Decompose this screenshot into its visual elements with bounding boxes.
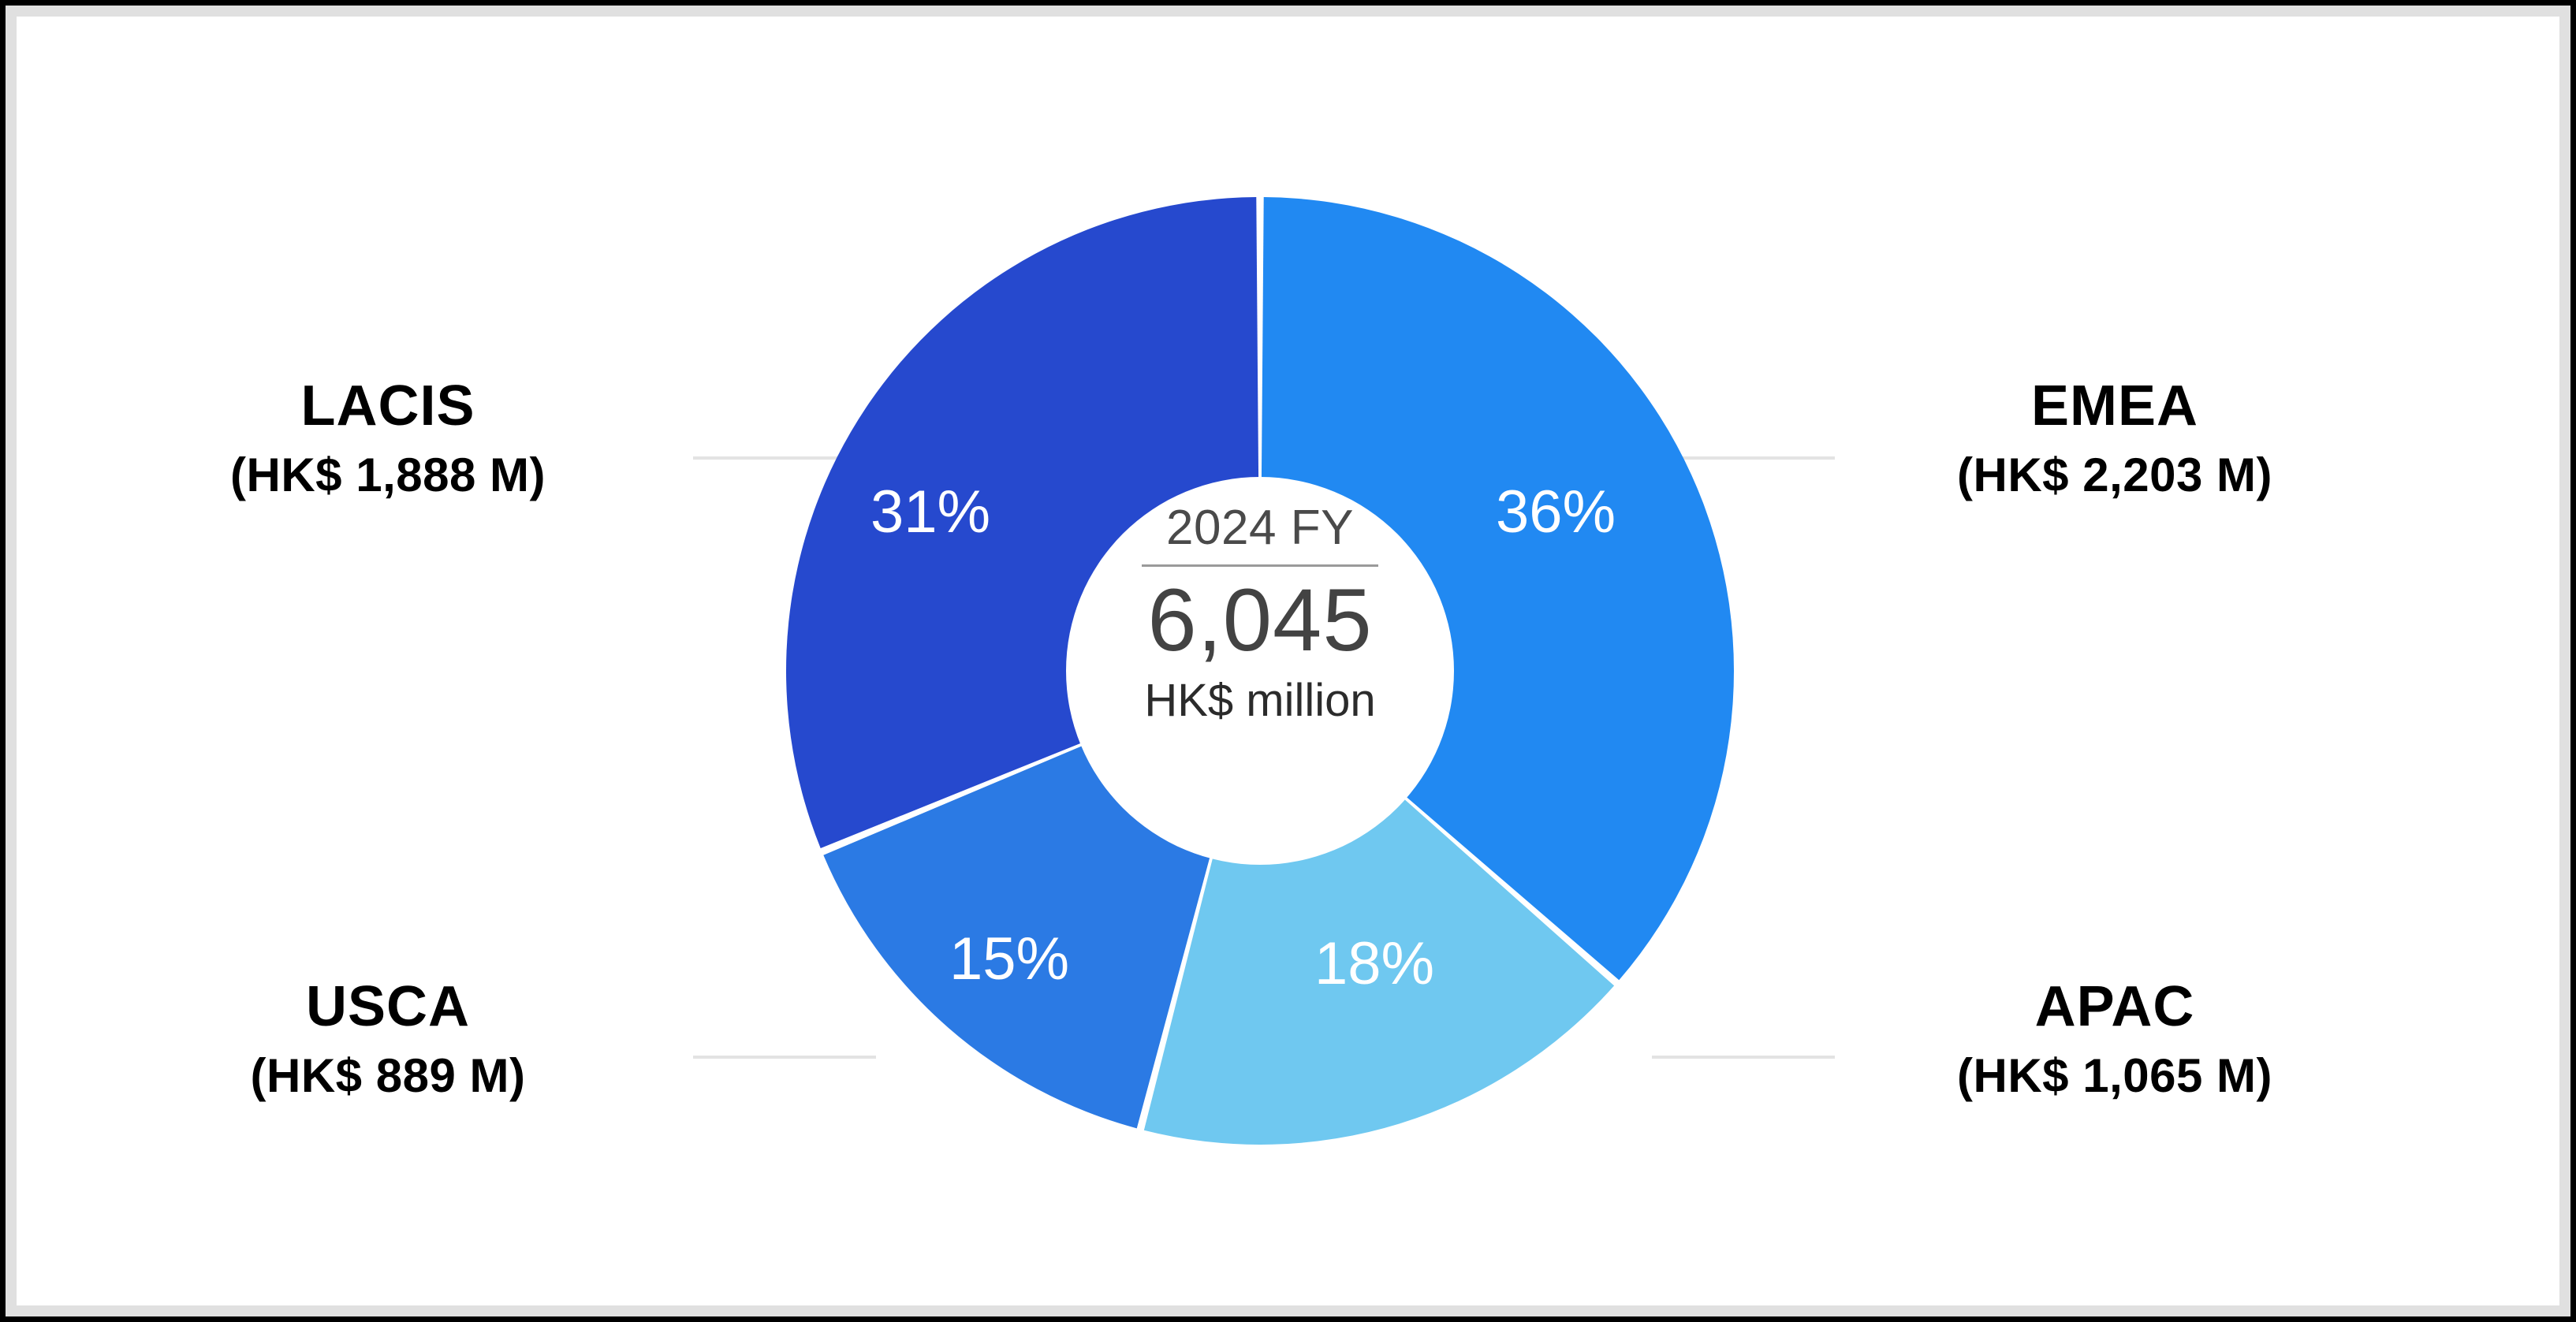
center-unit-label: HK$ million [1039,677,1481,725]
slice-percent-apac: 18% [1314,934,1434,994]
region-value-lacis: (HK$ 1,888 M) [112,450,664,501]
region-name-apac: APAC [1815,977,2414,1037]
chart-canvas: 36% 31% 15% 18% 2024 FY 6,045 HK$ millio… [6,6,2570,1316]
center-divider [1142,564,1378,567]
region-value-apac: (HK$ 1,065 M) [1815,1051,2414,1101]
region-label-apac: APAC (HK$ 1,065 M) [1815,977,2414,1101]
center-total-value: 6,045 [1039,576,1481,665]
center-period-label: 2024 FY [1039,502,1481,553]
region-name-emea: EMEA [1823,376,2406,436]
donut-center-summary: 2024 FY 6,045 HK$ million [1039,502,1481,725]
region-label-emea: EMEA (HK$ 2,203 M) [1823,376,2406,501]
slice-percent-emea: 36% [1496,482,1616,542]
region-label-usca: USCA (HK$ 889 M) [112,977,664,1101]
region-value-usca: (HK$ 889 M) [112,1051,664,1101]
region-name-lacis: LACIS [112,376,664,436]
region-value-emea: (HK$ 2,203 M) [1823,450,2406,501]
region-label-lacis: LACIS (HK$ 1,888 M) [112,376,664,501]
slice-percent-lacis: 31% [870,482,990,542]
chart-figure: 36% 31% 15% 18% 2024 FY 6,045 HK$ millio… [0,0,2576,1322]
region-name-usca: USCA [112,977,664,1037]
slice-percent-usca: 15% [949,929,1069,989]
